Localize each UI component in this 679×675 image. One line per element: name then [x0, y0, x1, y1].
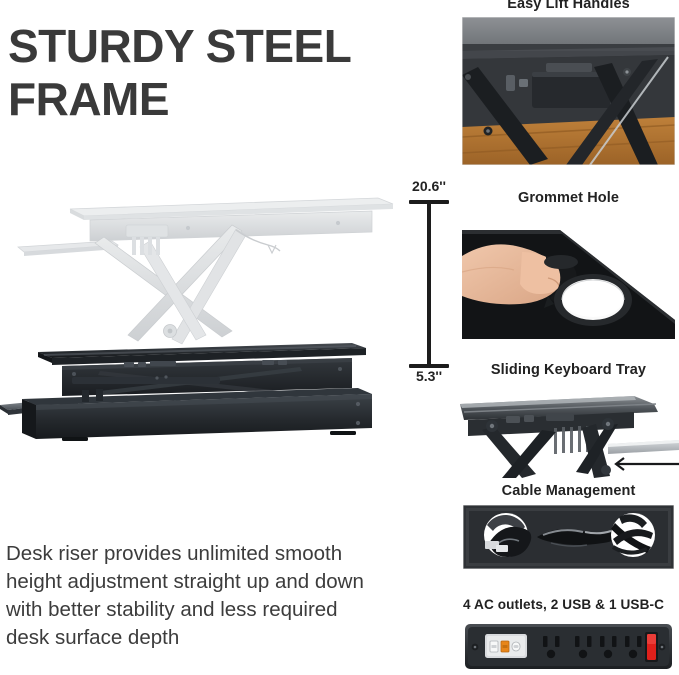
height-range-callout: 20.6'' 5.3''	[398, 178, 460, 390]
feature-label-keyboard-tray: Sliding Keyboard Tray	[458, 362, 679, 378]
photo-cable-management	[463, 505, 674, 569]
left-column: STURDY STEEL FRAME	[0, 0, 458, 675]
feature-panel-power-strip: 4 AC outlets, 2 USB & 1 USB-C	[458, 597, 679, 675]
feature-label-grommet: Grommet Hole	[458, 190, 679, 206]
product-infographic: STURDY STEEL FRAME	[0, 0, 679, 675]
product-side-view-illustration	[0, 185, 400, 450]
feature-label-cable-management: Cable Management	[458, 483, 679, 499]
page-title: STURDY STEEL FRAME	[8, 20, 438, 126]
product-lowered-position	[0, 343, 372, 441]
feature-panel-handles: Easy Lift Handles	[458, 0, 679, 165]
feature-panel-grommet: Grommet Hole	[458, 190, 679, 339]
feature-label-power-strip: 4 AC outlets, 2 USB & 1 USB-C	[458, 597, 679, 612]
photo-power-strip	[463, 620, 674, 675]
dimension-line	[427, 200, 431, 368]
dimension-max-label: 20.6''	[398, 178, 460, 194]
feature-panel-column: Easy Lift Handles	[458, 0, 679, 675]
ghost-raised-position	[18, 198, 393, 344]
description-text: Desk riser provides unlimited smooth hei…	[6, 540, 376, 652]
photo-grommet-hole	[462, 212, 675, 339]
photo-easy-lift-handles	[462, 17, 675, 165]
photo-sliding-keyboard-tray	[458, 382, 679, 482]
feature-label-handles: Easy Lift Handles	[458, 0, 679, 12]
feature-panel-cable-management: Cable Management	[458, 483, 679, 569]
feature-panel-keyboard-tray: Sliding Keyboard Tray	[458, 362, 679, 482]
dimension-min-label: 5.3''	[398, 368, 460, 384]
